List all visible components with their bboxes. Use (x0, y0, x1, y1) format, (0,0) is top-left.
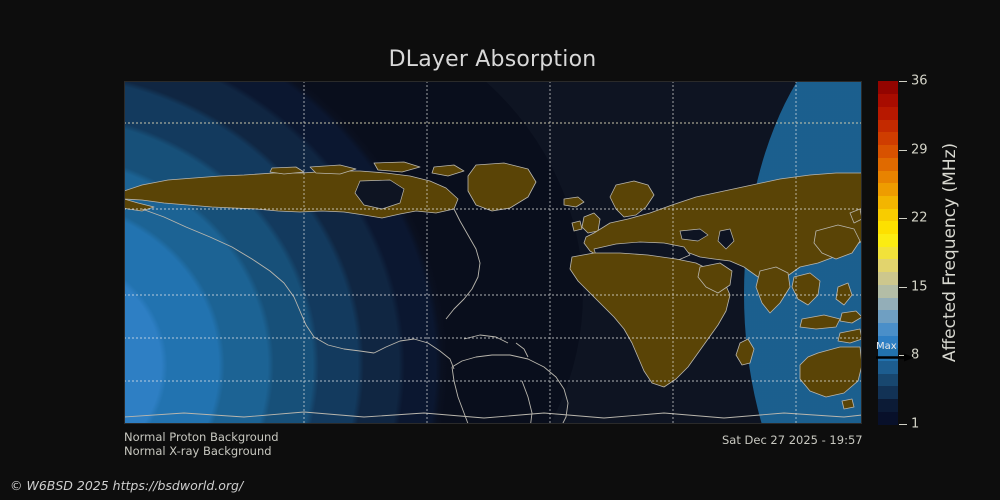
copyright-notice[interactable]: © W6BSD 2025 https://bsdworld.org/ (10, 478, 243, 493)
map-layers (124, 81, 862, 424)
proton-background-status: Normal Proton Background (124, 430, 279, 444)
colorbar-band (878, 272, 898, 285)
colorbar-band (878, 195, 898, 208)
timestamp: Sat Dec 27 2025 - 19:57 (722, 433, 863, 447)
page-title: DLayer Absorption (0, 47, 985, 72)
colorbar-band (878, 373, 898, 386)
colorbar-band (878, 208, 898, 221)
colorbar-tick (899, 287, 907, 288)
colorbar-band (878, 399, 898, 412)
absorption-contours (124, 81, 583, 424)
colorbar-band (878, 132, 898, 145)
colorbar-band (878, 322, 898, 335)
colorbar-band (878, 170, 898, 183)
colorbar-band (878, 297, 898, 310)
colorbar-band (878, 119, 898, 132)
colorbar-band (878, 221, 898, 234)
colorbar-band (878, 183, 898, 196)
colorbar-band (878, 386, 898, 399)
colorbar-band (878, 310, 898, 323)
colorbar-gradient (878, 81, 898, 424)
world-map-panel[interactable] (124, 81, 862, 424)
colorbar-axis-label-text: Affected Frequency (MHz) (940, 81, 960, 424)
colorbar-band (878, 246, 898, 259)
chart-canvas: DLayer Absorption (0, 0, 1000, 500)
colorbar-band (878, 360, 898, 373)
colorbar-band (878, 94, 898, 107)
colorbar-tick (899, 81, 907, 82)
colorbar-band (878, 106, 898, 119)
colorbar-tick (899, 424, 907, 425)
colorbar[interactable] (878, 81, 898, 424)
colorbar-band (878, 284, 898, 297)
colorbar-band (878, 348, 898, 361)
xray-background-status: Normal X-ray Background (124, 444, 272, 458)
colorbar-tick (899, 355, 907, 356)
colorbar-tick (899, 218, 907, 219)
colorbar-band (878, 145, 898, 158)
colorbar-band (878, 411, 898, 424)
colorbar-tick (899, 150, 907, 151)
colorbar-axis-label: Affected Frequency (MHz) (918, 81, 944, 424)
colorbar-band (878, 233, 898, 246)
colorbar-band (878, 335, 898, 348)
colorbar-band (878, 81, 898, 94)
colorbar-band (878, 259, 898, 272)
colorbar-band (878, 157, 898, 170)
world-map-svg (124, 81, 862, 424)
